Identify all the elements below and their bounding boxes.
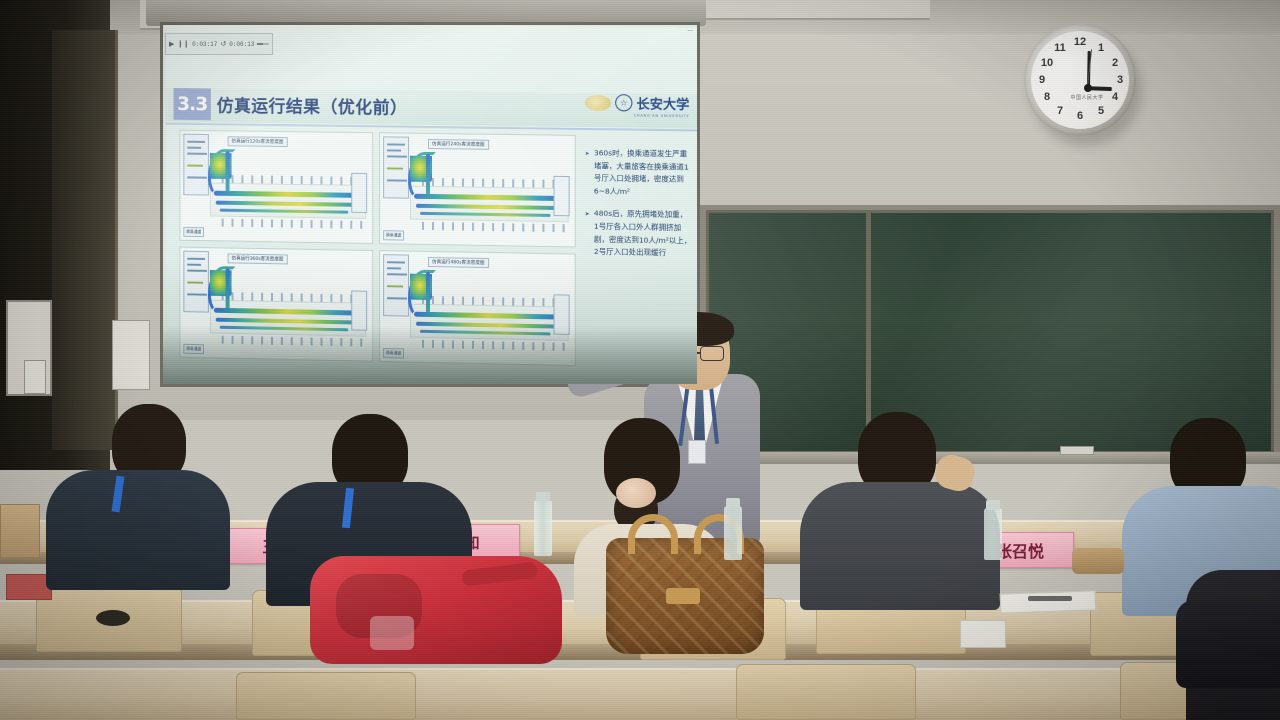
university-logo: ☆ 长安大学 <box>585 93 690 113</box>
chair <box>236 672 416 720</box>
station-minimap <box>183 251 209 313</box>
clock-numeral-7: 7 <box>1053 105 1067 117</box>
light-switch <box>24 360 46 394</box>
station-minimap <box>383 136 409 198</box>
tissue-box <box>960 620 1006 648</box>
simulation-panel-caption: 仿真运行480s客流密度图 <box>428 257 489 268</box>
video-current-time: 0:03:17 <box>192 41 217 48</box>
slide-section-number: 3.3 <box>174 88 211 120</box>
clock-numeral-5: 5 <box>1094 105 1108 117</box>
chair-handle-hole <box>96 610 130 626</box>
clock-numeral-8: 8 <box>1040 91 1054 103</box>
university-name: 长安大学 <box>636 93 689 113</box>
cardboard-box <box>0 504 40 558</box>
clock-numeral-2: 2 <box>1108 57 1122 69</box>
pause-icon[interactable]: ❙❙ <box>177 40 189 48</box>
transfer-passage-label: 换乘通道 <box>183 227 204 237</box>
floral-hair-accessory <box>616 478 656 508</box>
ceiling-panel-secondary <box>700 0 930 20</box>
paper-sheet <box>1000 590 1097 613</box>
bottle-cap <box>536 492 550 502</box>
simulation-panel-caption: 仿真运行360s客流密度图 <box>228 253 288 264</box>
clock-numeral-12: 12 <box>1073 36 1087 48</box>
screen-shadow-bottom <box>163 326 697 384</box>
transfer-passage-label: 换乘通道 <box>383 230 404 240</box>
simulation-panel-caption: 仿真运行120s客流密度图 <box>228 136 288 147</box>
station-exit-block <box>554 176 570 216</box>
clock-numeral-10: 10 <box>1040 57 1054 69</box>
water-bottle <box>534 500 552 556</box>
audience-torso <box>800 482 1000 610</box>
loop-icon[interactable]: ↺ <box>220 40 226 48</box>
station-minimap <box>183 134 209 196</box>
clock-numeral-1: 1 <box>1094 42 1108 54</box>
bottle-cap <box>986 500 1000 510</box>
clock-numeral-3: 3 <box>1113 74 1127 86</box>
clock-face: 12 1 2 3 4 5 6 7 8 9 10 11 中国人民大学 <box>1031 31 1129 129</box>
simulation-panel: 仿真运行120s客流密度图 换乘通道 <box>179 130 373 244</box>
simulation-panel: 仿真运行240s客流密度图 换乘通道 <box>379 132 576 247</box>
video-total-time: 0:06:13 <box>229 41 254 48</box>
density-corridor <box>226 151 230 193</box>
video-overflow-menu[interactable]: ... <box>687 26 693 33</box>
handbag-clasp <box>666 588 700 604</box>
wall-box <box>112 320 150 390</box>
density-corridor <box>426 272 430 314</box>
water-bottle <box>984 508 1002 560</box>
simulation-panel-caption: 仿真运行240s客流密度图 <box>428 139 489 150</box>
audience-member <box>800 412 980 592</box>
platform-doors-bottom <box>422 222 569 232</box>
density-corridor <box>426 154 430 196</box>
slide-bullet-list: 360s时，换乘通道发生严重堵塞，大量旅客在换乘通道1号厅入口处拥堵，密度达到6… <box>586 147 692 270</box>
small-bag <box>1072 548 1124 574</box>
platform-doors-bottom <box>222 219 366 229</box>
slide-bullet-item: 480s后，原先拥堵处加重，1号厅各入口外人群拥挤加剧，密度达到10人/m²以上… <box>586 208 692 261</box>
blackboard-glare <box>709 213 1271 451</box>
audience-member <box>36 404 206 574</box>
water-bottle <box>724 506 742 560</box>
density-corridor <box>226 268 230 310</box>
pen <box>1028 596 1072 601</box>
clock-numeral-9: 9 <box>1035 74 1049 86</box>
projection-screen: ▶ ❙❙ 0:03:17 ↺ 0:06:13 ... 3.3 仿真运行结果（优化… <box>163 25 697 384</box>
video-player-bar[interactable]: ▶ ❙❙ 0:03:17 ↺ 0:06:13 <box>165 33 273 55</box>
university-name-en: CHANG'AN UNIVERSITY <box>634 114 690 119</box>
station-exit-block <box>351 173 367 213</box>
station-minimap <box>383 254 409 316</box>
seal-icon: ☆ <box>615 94 632 111</box>
clock-numeral-11: 11 <box>1053 42 1067 54</box>
wall-clock: 12 1 2 3 4 5 6 7 8 9 10 11 中国人民大学 <box>1024 24 1139 139</box>
left-door <box>52 30 118 450</box>
clock-brand-text: 中国人民大学 <box>1059 94 1115 101</box>
chair <box>736 664 916 720</box>
draped-jacket <box>1176 600 1280 688</box>
video-progress-scrubber[interactable] <box>257 43 269 45</box>
leaf-emblem-icon <box>585 94 611 110</box>
classroom-photo: 12 1 2 3 4 5 6 7 8 9 10 11 中国人民大学 ▶ ❙❙ 0… <box>0 0 1280 720</box>
desk-row-front <box>0 668 1280 720</box>
bottle-cap <box>726 498 740 508</box>
clock-center-cap <box>1084 84 1092 92</box>
slide-bullet-item: 360s时，换乘通道发生严重堵塞，大量旅客在换乘通道1号厅入口处拥堵，密度达到6… <box>586 147 692 199</box>
glasses-lens-right <box>700 346 724 361</box>
slide-title: 仿真运行结果（优化前） <box>217 92 408 119</box>
play-icon[interactable]: ▶ <box>169 40 174 48</box>
backpack-mesh-pocket <box>370 616 414 650</box>
eraser <box>1060 446 1094 455</box>
station-exit-block <box>351 291 367 331</box>
audience-torso <box>46 470 230 590</box>
clock-numeral-6: 6 <box>1073 110 1087 122</box>
